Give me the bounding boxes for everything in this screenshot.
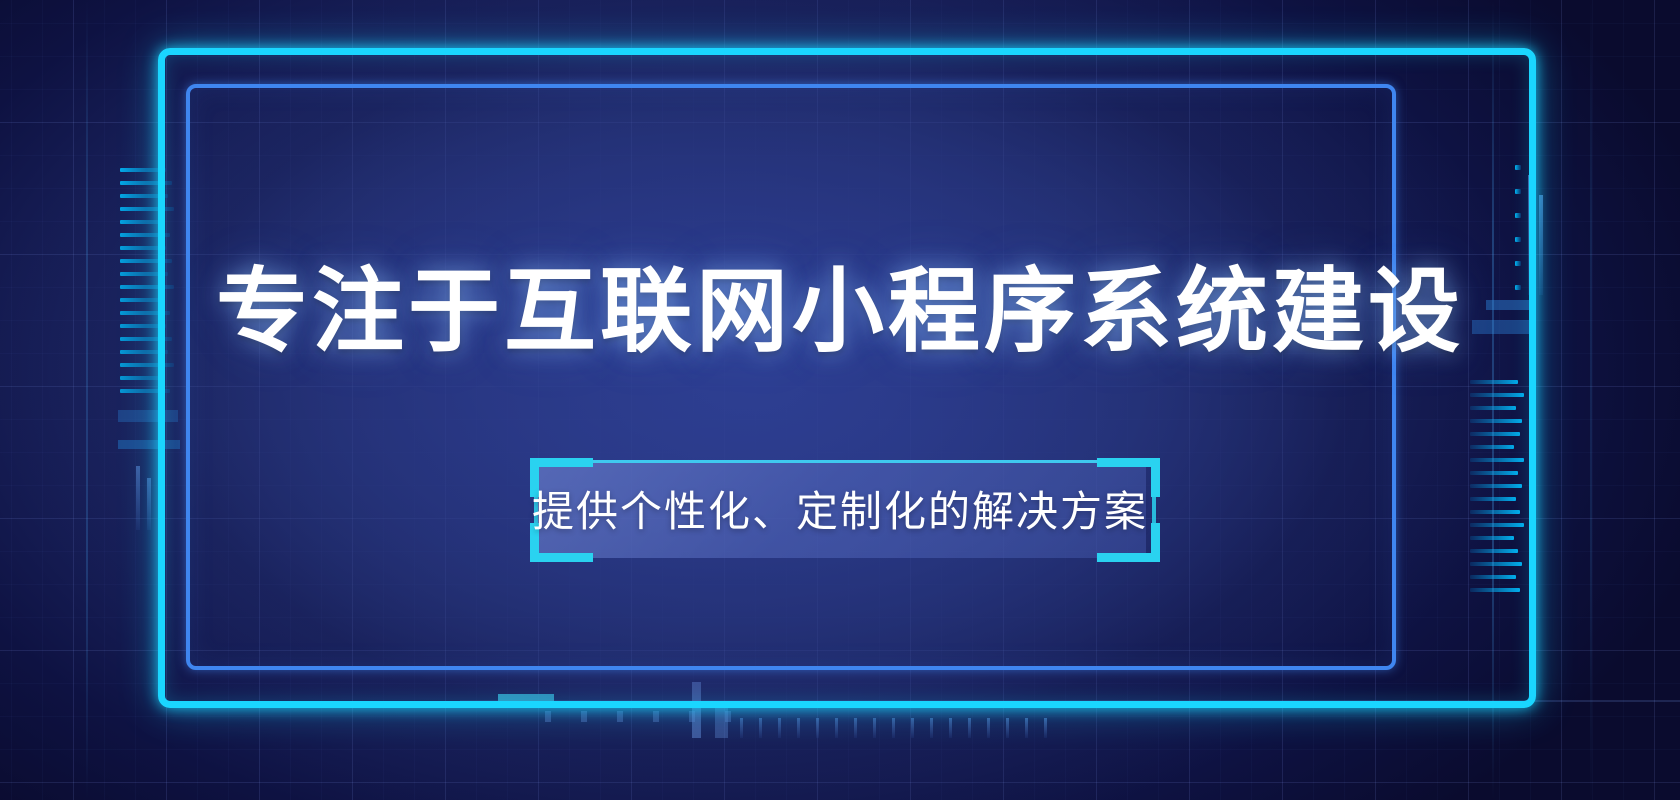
hero-banner: 专注于互联网小程序系统建设 提供个性化、定制化的解决方案 <box>0 0 1680 800</box>
banner-content: 专注于互联网小程序系统建设 提供个性化、定制化的解决方案 <box>0 0 1680 800</box>
subtitle-text: 提供个性化、定制化的解决方案 <box>520 446 1160 558</box>
subtitle-plate-wrapper: 提供个性化、定制化的解决方案 <box>520 446 1160 558</box>
page-title: 专注于互联网小程序系统建设 <box>216 266 1464 358</box>
